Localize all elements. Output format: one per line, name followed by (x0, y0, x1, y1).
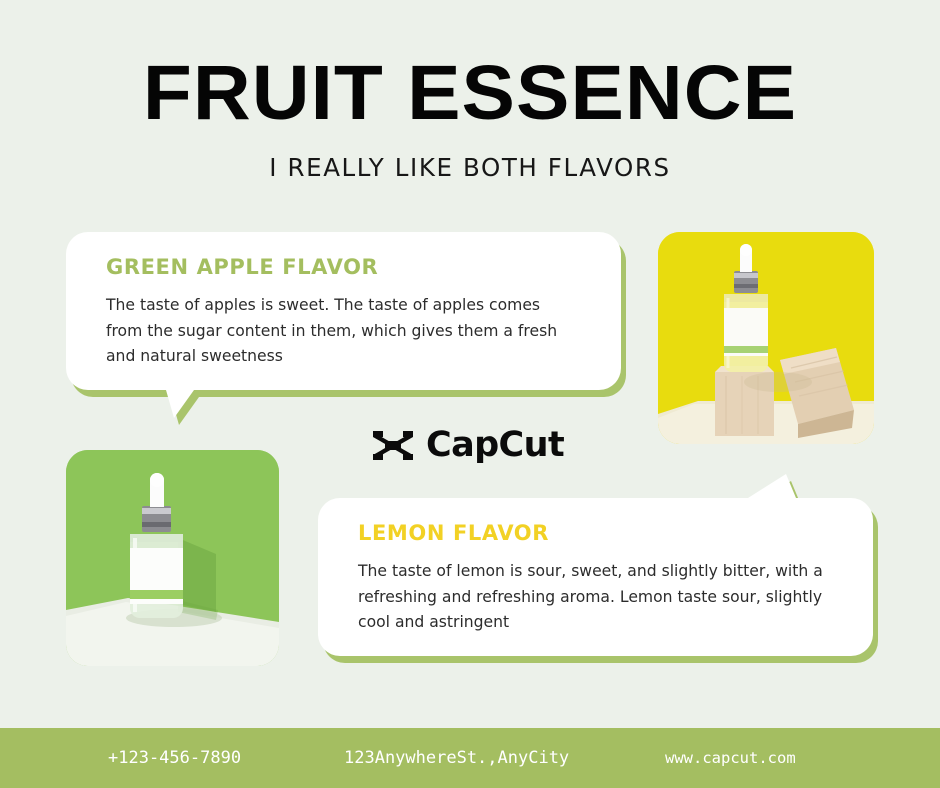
green-serum-photo (66, 450, 279, 666)
capcut-wordmark: CapCut (426, 428, 564, 463)
card-green-apple-heading: GREEN APPLE FLAVOR (106, 256, 579, 279)
footer-website[interactable]: www.capcut.com (665, 749, 796, 767)
poster-canvas: FRUIT ESSENCE I REALLY LIKE BOTH FLAVORS… (0, 0, 940, 788)
card-green-apple-content: GREEN APPLE FLAVOR The taste of apples i… (66, 232, 621, 369)
page-title: FRUIT ESSENCE (0, 0, 940, 130)
capcut-logo-mark-icon (371, 428, 415, 462)
card-lemon-content: LEMON FLAVOR The taste of lemon is sour,… (318, 498, 873, 635)
card-green-apple-text: The taste of apples is sweet. The taste … (106, 279, 579, 369)
yellow-serum-photo (658, 232, 874, 444)
footer-bar: +123-456-7890 123AnywhereSt.,AnyCity www… (0, 728, 940, 788)
card-lemon-text: The taste of lemon is sour, sweet, and s… (358, 545, 837, 635)
footer-address: 123AnywhereSt.,AnyCity (344, 748, 569, 768)
card-lemon-heading: LEMON FLAVOR (358, 522, 837, 545)
card-lemon: LEMON FLAVOR The taste of lemon is sour,… (318, 498, 873, 656)
poster-header: FRUIT ESSENCE I REALLY LIKE BOTH FLAVORS (0, 0, 940, 182)
card-green-apple: GREEN APPLE FLAVOR The taste of apples i… (66, 232, 621, 390)
capcut-logo: CapCut (371, 421, 571, 469)
page-subtitle: I REALLY LIKE BOTH FLAVORS (0, 130, 940, 182)
footer-phone[interactable]: +123-456-7890 (108, 748, 241, 768)
